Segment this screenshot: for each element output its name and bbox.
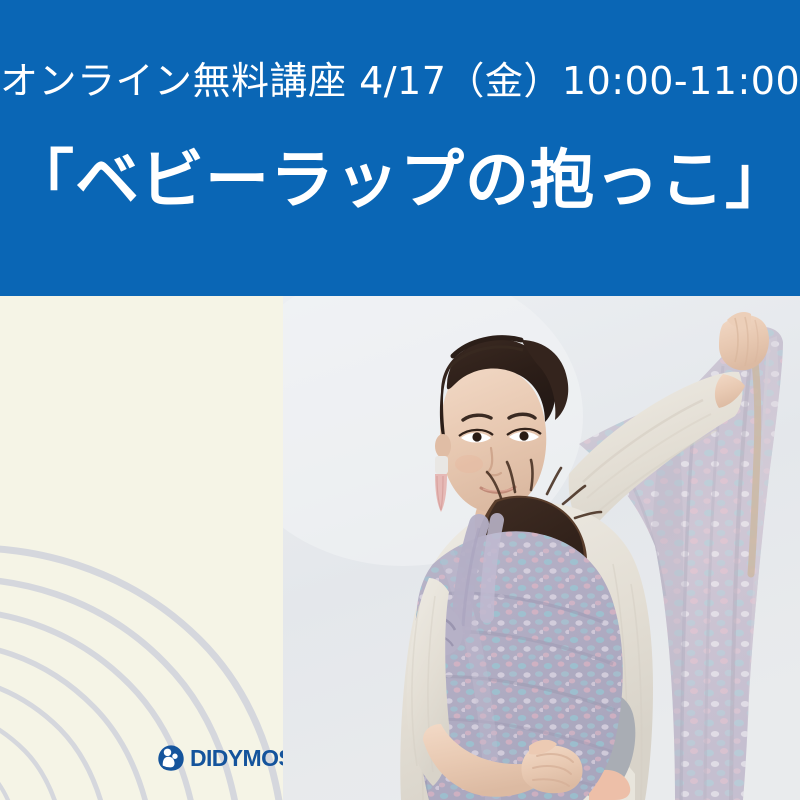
- lower-section: DIDYMOS®: [0, 296, 800, 800]
- promo-banner: オンライン無料講座 4/17（金）10:00-11:00 「ベビーラップの抱っこ…: [0, 0, 800, 800]
- didymos-logo: DIDYMOS®: [157, 744, 283, 772]
- mother-baby-wrap-photo: [283, 296, 800, 800]
- page-title: 「ベビーラップの抱っこ」: [0, 148, 800, 215]
- brand-panel: DIDYMOS®: [0, 296, 283, 800]
- mother-and-baby-icon: [157, 744, 185, 772]
- header-band: オンライン無料講座 4/17（金）10:00-11:00 「ベビーラップの抱っこ…: [0, 0, 800, 296]
- wordmark-text: DIDYMOS: [190, 745, 283, 771]
- photo-panel: [283, 296, 800, 800]
- didymos-wordmark: DIDYMOS®: [190, 747, 283, 770]
- event-eyebrow-text: オンライン無料講座 4/17（金）10:00-11:00: [0, 62, 800, 100]
